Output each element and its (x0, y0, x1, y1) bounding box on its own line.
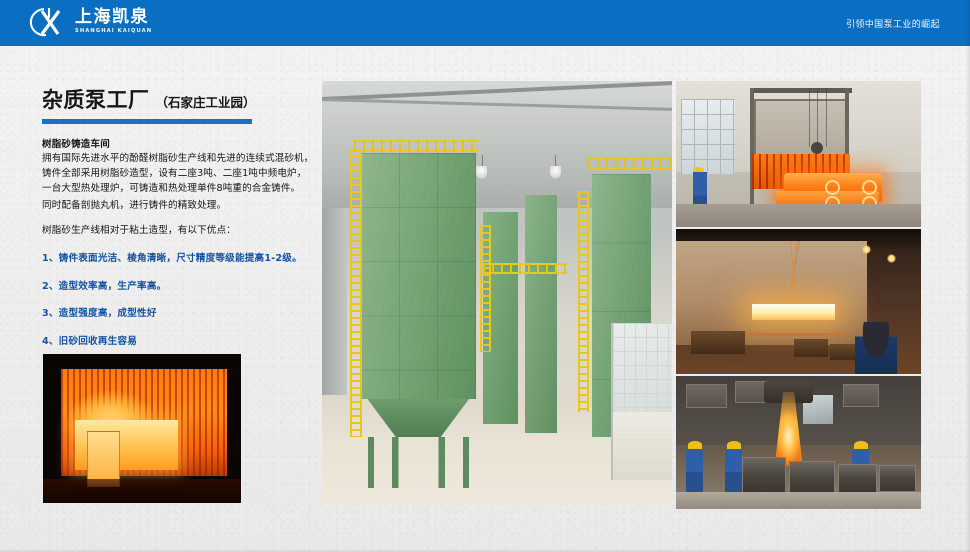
ceiling-lamp-icon (476, 166, 487, 179)
silo-support-legs (368, 437, 470, 488)
roof-beam (322, 81, 672, 101)
worker-body (725, 449, 742, 493)
list-item: 2、造型效率高，生产率高。 (42, 280, 314, 293)
list-item: 1、铸件表面光洁、棱角清晰，尺寸精度等级能提高1-2级。 (42, 252, 314, 265)
stored-mold-box (794, 339, 828, 356)
ceiling-lamp-icon (550, 166, 561, 179)
platform-railing (588, 157, 672, 169)
worker-figure (725, 441, 742, 493)
ceiling-lamp-icon (887, 254, 896, 263)
stored-mold-box (691, 331, 745, 354)
crane-cables (803, 88, 832, 146)
brand-logo[interactable]: 上海凯泉 SHANGHAI KAIQUAN (28, 6, 152, 38)
workshop-window-sill (613, 412, 673, 480)
list-item: 4、旧砂回收再生容易 (42, 335, 314, 348)
worker-body (686, 449, 703, 493)
logo-wordmark: 上海凯泉 SHANGHAI KAIQUAN (75, 9, 152, 34)
furnace-door (754, 99, 847, 157)
worker-helmet-icon (854, 441, 868, 449)
shop-floor (676, 492, 921, 509)
platform-railing (483, 263, 567, 274)
worker-helmet-icon (727, 441, 741, 449)
page-title-sub: （石家庄工业园） (156, 92, 256, 111)
safety-ladder (480, 225, 491, 352)
wall-panel (843, 384, 880, 407)
crane-lifting-billet-photo (676, 229, 921, 374)
list-item: 3、造型强度高，成型性好 (42, 307, 314, 320)
shop-window (681, 99, 735, 175)
ceiling-lamp-icon (862, 245, 871, 254)
body-paragraph-2: 同时配备剖抛丸机，进行铸件的精致处理。 (42, 199, 314, 214)
shop-floor (676, 204, 921, 227)
wall-panel (686, 384, 728, 408)
roof-beam (322, 97, 672, 111)
page-title-main: 杂质泵工厂 (42, 84, 150, 114)
logo-chinese-name: 上海凯泉 (75, 9, 152, 26)
floor-railing (735, 333, 848, 336)
furnace-hot-castings-photo (676, 81, 921, 227)
section-subheading: 树脂砂铸造车间 (42, 136, 314, 150)
advantages-list: 1、铸件表面光洁、棱角清晰，尺寸精度等级能提高1-2级。 2、造型效率高，生产率… (42, 252, 314, 348)
body-paragraph-3: 树脂砂生产线相对于粘土造型，有以下优点： (42, 224, 314, 239)
sand-mold-box (838, 464, 877, 493)
conveyor-column (525, 195, 557, 432)
slide-canvas: 上海凯泉 SHANGHAI KAIQUAN 引领中国泵工业的崛起 杂质泵工厂 （… (0, 0, 970, 552)
body-paragraph-1: 拥有国际先进水平的酚醛树脂砂生产线和先进的连续式混砂机，铸件全部采用树脂砂造型，… (42, 152, 314, 197)
header-bar: 上海凯泉 SHANGHAI KAIQUAN 引领中国泵工业的崛起 (0, 0, 970, 46)
safety-ladder (578, 191, 589, 411)
content-text-column: 杂质泵工厂 （石家庄工业园） 树脂砂铸造车间 拥有国际先进水平的酚醛树脂砂生产线… (42, 84, 314, 362)
slide-right-edge (966, 0, 970, 552)
gantry-post (750, 88, 754, 208)
safety-ladder (350, 149, 362, 437)
sand-mold-box (789, 461, 836, 496)
heat-treatment-furnace-photo (43, 354, 241, 503)
crane-hook (811, 142, 823, 154)
molten-metal-pouring-photo (676, 376, 921, 509)
kaiquan-logo-icon (28, 6, 68, 38)
crane-slings (750, 241, 838, 308)
workshop-overview-photo (322, 81, 672, 505)
glowing-hot-billet (752, 304, 835, 320)
title-underline-rule (42, 119, 252, 124)
sand-mold-box (742, 457, 786, 494)
furnace-hearth (43, 479, 241, 503)
worker-figure (855, 322, 897, 374)
platform-railing (354, 140, 480, 152)
page-title: 杂质泵工厂 （石家庄工业园） (42, 84, 314, 114)
worker-helmet-icon (688, 441, 702, 449)
header-tagline: 引领中国泵工业的崛起 (846, 0, 940, 46)
worker-figure (686, 441, 703, 493)
logo-english-name: SHANGHAI KAIQUAN (75, 29, 152, 34)
sand-mold-box (879, 465, 916, 492)
sand-mixer-silo (361, 153, 477, 399)
gantry-beam (750, 88, 853, 93)
